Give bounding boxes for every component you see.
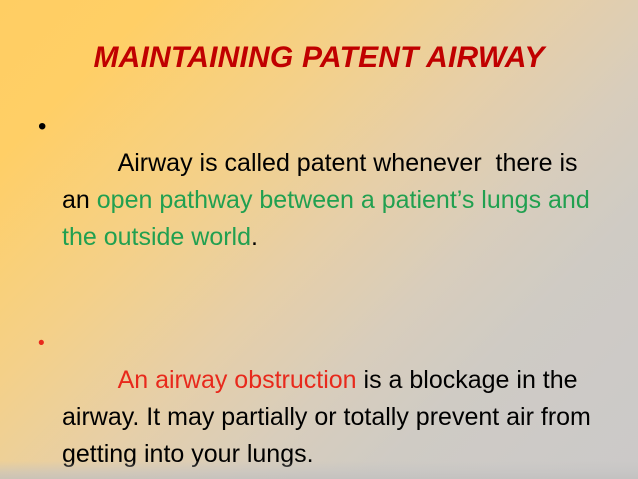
bullet-point-icon: • bbox=[38, 325, 58, 362]
text-segment-highlight-green: open pathway between a patient’s lungs a… bbox=[62, 186, 597, 251]
list-item: • An airway obstruction is a blockage in… bbox=[30, 325, 610, 479]
list-item-text: An airway obstruction is a blockage in t… bbox=[62, 325, 610, 479]
bullet-list: • Airway is called patent whenever there… bbox=[30, 108, 610, 479]
text-segment: . bbox=[251, 223, 258, 251]
list-item: • Airway is called patent whenever there… bbox=[30, 108, 610, 293]
bullet-point-icon: • bbox=[38, 108, 58, 145]
list-item-text: Airway is called patent whenever there i… bbox=[62, 108, 610, 293]
page-title: MAINTAINING PATENT AIRWAY bbox=[0, 39, 638, 77]
text-segment-highlight-red: An airway obstruction bbox=[118, 366, 357, 394]
slide-canvas: MAINTAINING PATENT AIRWAY • Airway is ca… bbox=[0, 0, 638, 479]
